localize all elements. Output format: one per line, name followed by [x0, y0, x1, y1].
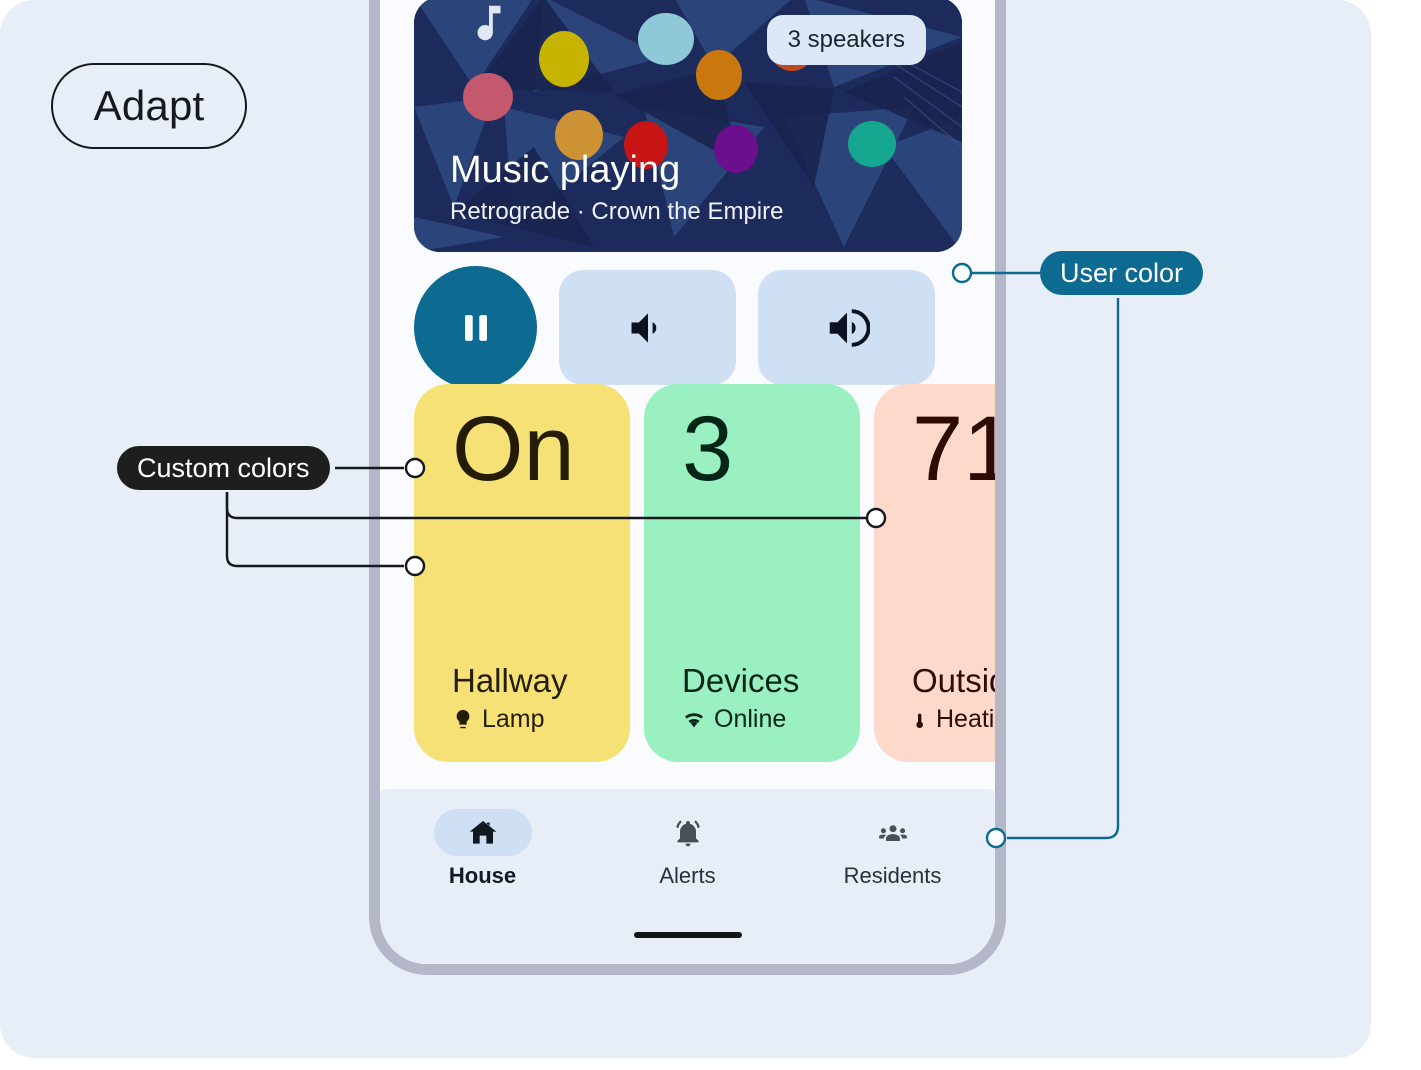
media-card[interactable]: 3 speakers Music playing Retrograde · Cr… — [414, 0, 962, 252]
page-root: Adapt — [0, 0, 1421, 1070]
tile-status: Online — [682, 705, 799, 734]
tile-name: Devices — [682, 662, 799, 700]
tile-outside[interactable]: 71 Outside Heating — [874, 384, 995, 762]
bottom-navigation: House Alerts — [380, 789, 995, 964]
pause-icon — [454, 306, 498, 350]
adapt-badge-label: Adapt — [94, 82, 205, 130]
tile-status-label: Online — [714, 705, 786, 734]
group-icon — [876, 817, 910, 849]
nav-house[interactable]: House — [380, 809, 585, 889]
nav-house-pill — [434, 809, 532, 856]
house-icon — [467, 817, 499, 849]
adapt-badge: Adapt — [51, 63, 247, 149]
media-title: Music playing — [450, 151, 783, 191]
bell-icon — [672, 817, 704, 849]
tile-value: 71 — [912, 392, 995, 507]
tile-devices[interactable]: 3 Devices Online — [644, 384, 860, 762]
volume-up-button[interactable] — [758, 270, 935, 385]
wifi-icon — [682, 709, 706, 731]
media-controls — [414, 266, 935, 389]
annotation-custom-colors-label: Custom colors — [137, 453, 310, 484]
music-note-icon — [466, 0, 512, 53]
home-indicator — [634, 932, 742, 938]
nav-alerts-pill — [639, 809, 737, 856]
speakers-chip[interactable]: 3 speakers — [767, 15, 926, 65]
tile-name: Hallway — [452, 662, 568, 700]
annotation-custom-colors: Custom colors — [117, 446, 330, 490]
media-subtitle: Retrograde · Crown the Empire — [450, 198, 783, 226]
volume-down-button[interactable] — [559, 270, 736, 385]
nav-residents-pill — [844, 809, 942, 856]
status-tiles: On Hallway Lamp 3 — [414, 384, 995, 762]
tile-footer: Outside Heating — [912, 662, 995, 734]
tile-footer: Devices Online — [682, 662, 799, 734]
design-canvas: Adapt — [0, 0, 1371, 1058]
lightbulb-icon — [452, 709, 474, 731]
annotation-user-color: User color — [1040, 251, 1203, 295]
nav-items: House Alerts — [380, 789, 995, 889]
phone-mockup: 3 speakers Music playing Retrograde · Cr… — [369, 0, 1006, 975]
tile-status-label: Lamp — [482, 705, 545, 734]
nav-alerts-label: Alerts — [659, 863, 715, 889]
volume-down-icon — [626, 306, 670, 350]
pause-button[interactable] — [414, 266, 537, 389]
tile-status: Heating — [912, 705, 995, 734]
tile-status-label: Heating — [936, 705, 995, 734]
media-text: Music playing Retrograde · Crown the Emp… — [450, 151, 783, 226]
nav-residents[interactable]: Residents — [790, 809, 995, 889]
nav-alerts[interactable]: Alerts — [585, 809, 790, 889]
tile-value: On — [452, 392, 575, 507]
tile-footer: Hallway Lamp — [452, 662, 568, 734]
phone-screen: 3 speakers Music playing Retrograde · Cr… — [380, 0, 995, 964]
thermostat-icon — [912, 709, 928, 731]
tile-status: Lamp — [452, 705, 568, 734]
volume-up-icon — [824, 305, 870, 351]
annotation-user-color-label: User color — [1060, 258, 1183, 289]
nav-house-label: House — [449, 863, 516, 889]
tile-value: 3 — [682, 392, 733, 507]
tile-name: Outside — [912, 662, 995, 700]
nav-residents-label: Residents — [844, 863, 942, 889]
tile-hallway[interactable]: On Hallway Lamp — [414, 384, 630, 762]
